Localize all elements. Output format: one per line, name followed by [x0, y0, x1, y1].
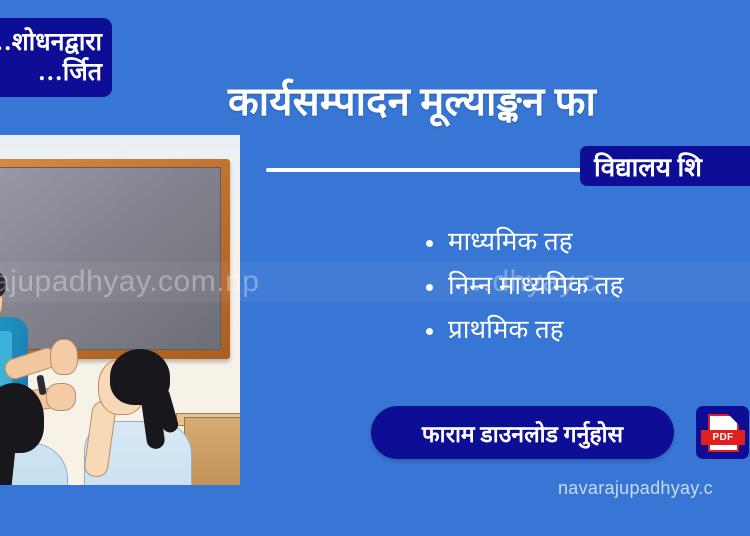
- student-desk: [184, 417, 240, 485]
- classroom-illustration: [0, 135, 240, 485]
- page-title: कार्यसम्पादन मूल्याङ्कन फा: [228, 72, 750, 127]
- level-list: माध्यमिक तह निम्न माध्यमिक तह प्राथमिक त…: [424, 220, 623, 352]
- promo-banner: …शोधनद्वारा …र्जित कार्यसम्पादन मूल्याङ्…: [0, 0, 750, 536]
- blackboard-frame: [0, 159, 230, 359]
- level-label: प्राथमिक तह: [448, 315, 564, 344]
- pdf-label-band: PDF: [701, 430, 745, 445]
- subtitle-badge: विद्यालय शि: [580, 146, 750, 186]
- subtitle-badge-label: विद्यालय शि: [594, 148, 702, 184]
- list-item: माध्यमिक तह: [424, 220, 623, 264]
- blackboard-surface: [0, 167, 221, 350]
- teacher-lower-hand: [46, 383, 76, 411]
- teacher-raised-hand: [50, 339, 78, 375]
- site-watermark: navarajupadhyay.c: [558, 478, 713, 499]
- download-form-button[interactable]: फाराम डाउनलोड गर्नुहोस: [371, 406, 674, 459]
- title-divider: [266, 168, 596, 172]
- list-item: निम्न माध्यमिक तह: [424, 264, 623, 308]
- source-badge-line-2: …र्जित: [38, 58, 102, 88]
- source-badge: …शोधनद्वारा …र्जित: [0, 18, 112, 97]
- list-item: प्राथमिक तह: [424, 308, 623, 352]
- level-label: माध्यमिक तह: [448, 227, 573, 256]
- pdf-file-icon[interactable]: PDF: [696, 406, 749, 459]
- pdf-label: PDF: [713, 432, 734, 443]
- source-badge-line-1: …शोधनद्वारा: [0, 28, 102, 58]
- level-label: निम्न माध्यमिक तह: [448, 271, 623, 300]
